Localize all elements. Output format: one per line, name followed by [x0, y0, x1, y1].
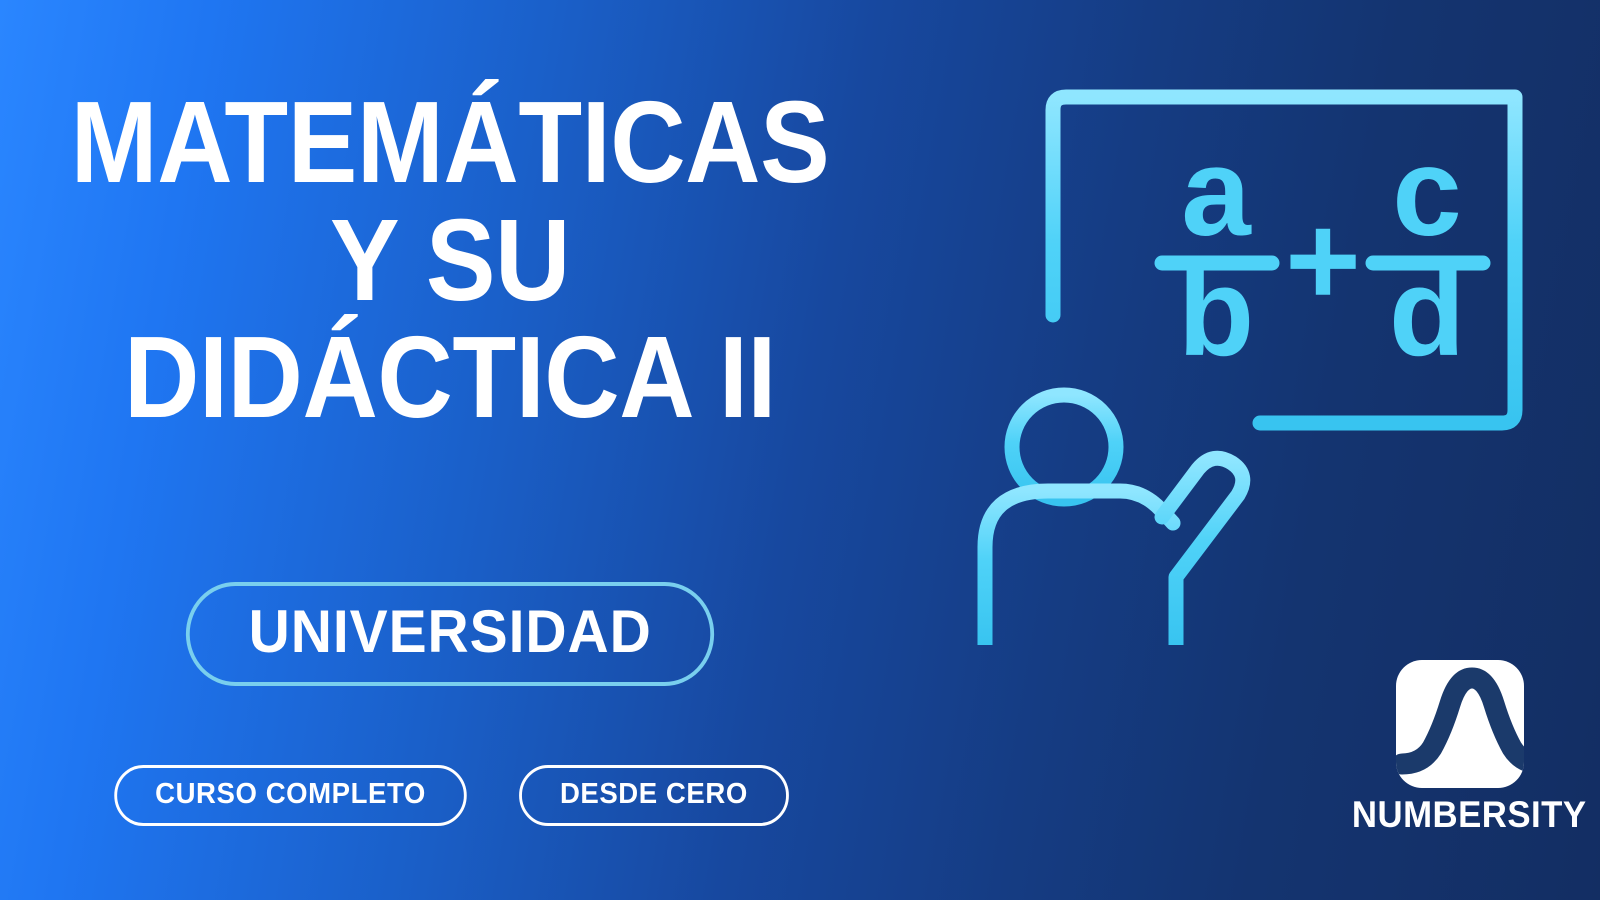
title-line-1: MATEMÁTICAS [45, 86, 855, 200]
equation-operator: + [1285, 187, 1361, 333]
level-badge-row: UNIVERSIDAD [0, 582, 900, 686]
level-badge: UNIVERSIDAD [186, 582, 715, 686]
poster-canvas: MATEMÁTICAS Y SU DIDÁCTICA II UNIVERSIDA… [0, 0, 1600, 900]
title-line-2: Y SU [45, 204, 855, 318]
brand-wordmark: NUMBERSITY [1352, 796, 1568, 833]
brand-logo: NUMBERSITY [1345, 660, 1575, 833]
title-line-3: DIDÁCTICA II [45, 321, 855, 435]
pill-desde-cero: DESDE CERO [519, 765, 789, 826]
pill-curso-completo: CURSO COMPLETO [114, 765, 466, 826]
teacher-at-whiteboard-icon: a b + c d [930, 55, 1550, 645]
feature-pill-row: CURSO COMPLETO DESDE CERO [0, 765, 900, 826]
text-column: MATEMÁTICAS Y SU DIDÁCTICA II UNIVERSIDA… [0, 0, 900, 900]
fraction-left-numerator: a [1181, 123, 1252, 262]
bell-curve-icon [1396, 660, 1524, 788]
page-title: MATEMÁTICAS Y SU DIDÁCTICA II [0, 86, 900, 435]
fraction-right-numerator: c [1392, 123, 1462, 262]
